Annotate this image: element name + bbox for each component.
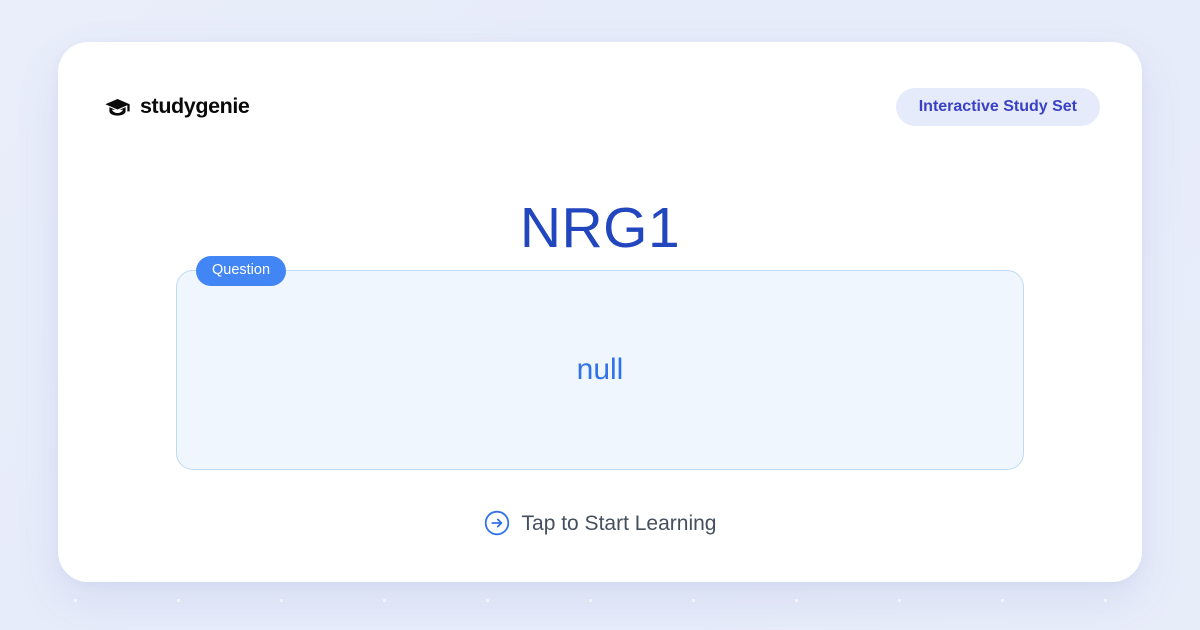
question-text: null	[577, 352, 624, 388]
question-label-chip: Question	[196, 256, 286, 286]
question-panel: Question null	[176, 270, 1024, 470]
start-learning-button[interactable]: Tap to Start Learning	[58, 510, 1142, 536]
card-header: studygenie Interactive Study Set	[58, 42, 1142, 172]
page-title: NRG1	[58, 197, 1142, 260]
question-box: null	[176, 270, 1024, 470]
graduation-cap-icon	[104, 95, 131, 122]
brand-name: studygenie	[140, 96, 250, 118]
arrow-right-circle-icon	[484, 510, 510, 536]
study-set-card: studygenie Interactive Study Set NRG1 Qu…	[58, 42, 1142, 582]
start-learning-label: Tap to Start Learning	[522, 513, 717, 534]
brand-logo: studygenie	[104, 93, 250, 122]
status-badge: Interactive Study Set	[896, 88, 1100, 126]
